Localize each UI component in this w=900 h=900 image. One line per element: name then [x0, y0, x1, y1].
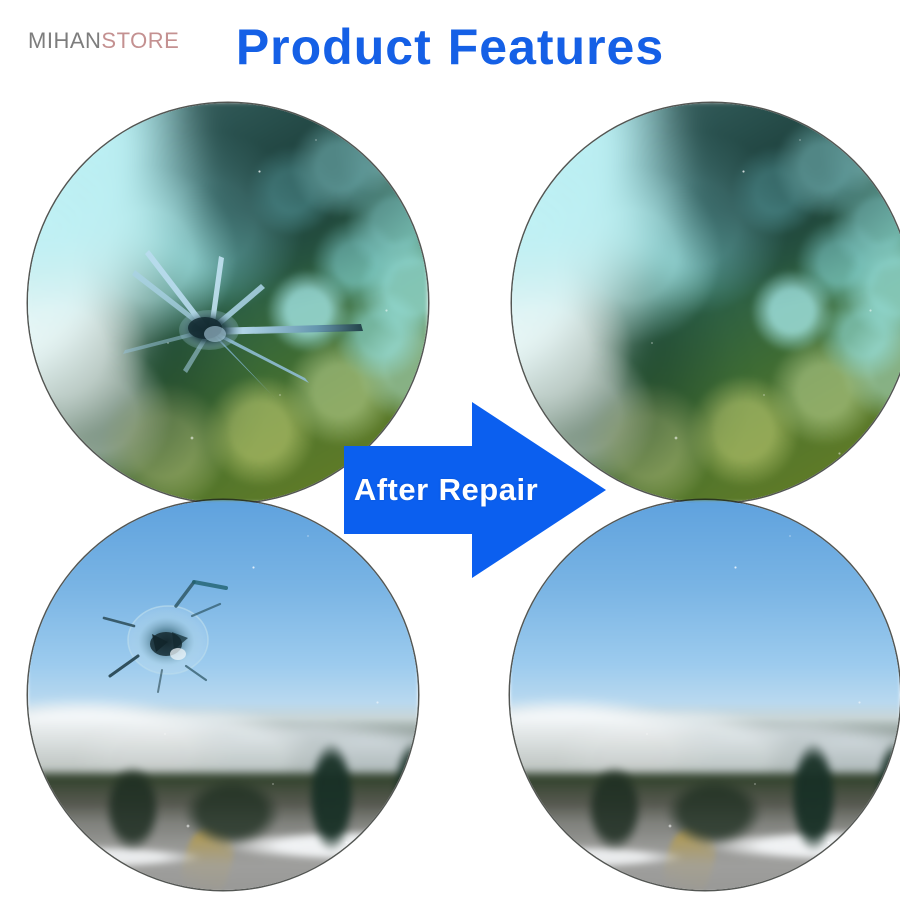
arrow-label: AfterRepair — [344, 402, 548, 578]
product-features-banner: MIHANSTORE ProductFeatures — [0, 0, 900, 900]
after-repair-arrow: AfterRepair — [344, 402, 606, 578]
page-title-word-one: Product — [236, 19, 432, 75]
arrow-label-word-two: Repair — [439, 472, 538, 508]
arrow-label-word-one: After — [354, 472, 429, 508]
page-title-word-two: Features — [448, 19, 664, 75]
page-title: ProductFeatures — [0, 18, 900, 76]
